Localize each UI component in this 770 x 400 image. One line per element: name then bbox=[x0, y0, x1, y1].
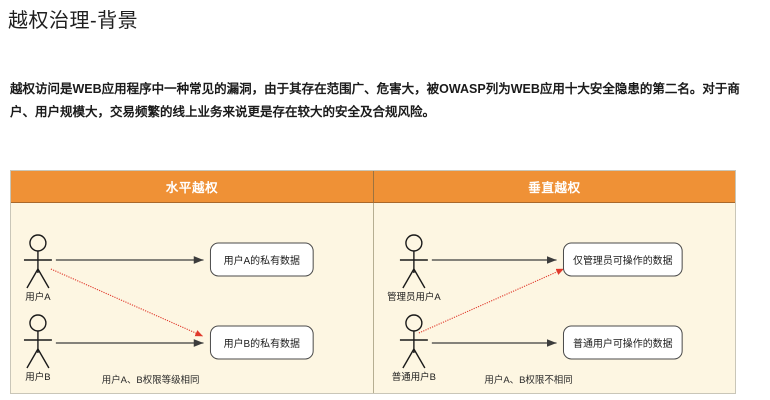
panel-caption-vertical: 用户A、B权限不相同 bbox=[484, 374, 572, 386]
privilege-escalation-comparison-table: 水平越权 垂直越权 bbox=[10, 170, 736, 394]
data-box-label-user-a-private: 用户A的私有数据 bbox=[224, 254, 300, 267]
data-box-label-normal-user-data: 普通用户可操作的数据 bbox=[573, 337, 673, 350]
data-box-user-a-private: 用户A的私有数据 bbox=[210, 243, 313, 276]
arrow-violation-user-a-to-data-b bbox=[51, 269, 203, 336]
page-title: 越权治理-背景 bbox=[8, 8, 138, 34]
horizontal-escalation-diagram: 用户A 用户B 用户A的私 bbox=[11, 203, 373, 393]
data-box-user-b-private: 用户B的私有数据 bbox=[210, 326, 313, 359]
table-header-vertical: 垂直越权 bbox=[373, 171, 735, 203]
panel-caption-horizontal: 用户A、B权限等级相同 bbox=[102, 374, 200, 386]
data-box-label-admin-only-data: 仅管理员可操作的数据 bbox=[573, 254, 673, 267]
actor-label-admin-user-a: 管理员用户A bbox=[387, 291, 441, 303]
table-header-row: 水平越权 垂直越权 bbox=[11, 171, 735, 203]
background-paragraph: 越权访问是WEB应用程序中一种常见的漏洞，由于其存在范围广、危害大，被OWASP… bbox=[10, 78, 758, 124]
data-box-admin-only-data: 仅管理员可操作的数据 bbox=[563, 243, 682, 276]
actor-normal-user-b bbox=[400, 315, 428, 368]
panel-horizontal-privilege-escalation: 用户A 用户B 用户A的私 bbox=[11, 203, 373, 393]
vertical-escalation-diagram: 管理员用户A 普通用户B bbox=[374, 203, 735, 393]
actor-label-user-b: 用户B bbox=[25, 371, 50, 383]
data-box-normal-user-data: 普通用户可操作的数据 bbox=[563, 326, 682, 359]
actor-label-normal-user-b: 普通用户B bbox=[392, 371, 436, 383]
actor-user-a bbox=[24, 235, 52, 288]
actor-label-user-a: 用户A bbox=[25, 291, 51, 303]
actor-user-b bbox=[24, 315, 52, 368]
actor-admin-user-a bbox=[400, 235, 428, 288]
panel-vertical-privilege-escalation: 管理员用户A 普通用户B bbox=[373, 203, 735, 393]
table-body-row: 用户A 用户B 用户A的私 bbox=[11, 203, 735, 393]
data-box-label-user-b-private: 用户B的私有数据 bbox=[224, 337, 300, 350]
table-header-horizontal: 水平越权 bbox=[11, 171, 373, 203]
